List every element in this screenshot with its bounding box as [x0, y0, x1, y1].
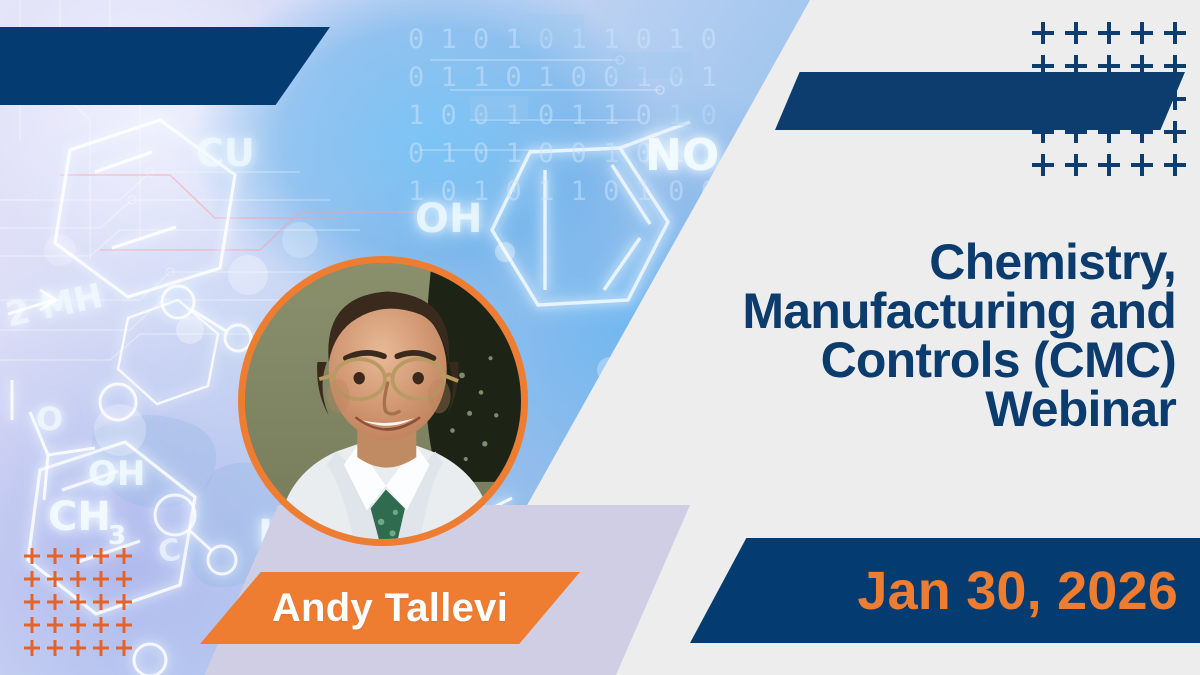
svg-text:CH: CH	[48, 494, 111, 540]
plus-icon	[1098, 22, 1120, 44]
date-label: Jan 30, 2026	[857, 560, 1200, 622]
plus-icon	[116, 594, 132, 610]
plus-icon	[47, 640, 63, 656]
title-line-1: Chemistry,	[616, 238, 1176, 287]
plus-icon	[1032, 121, 1054, 143]
plus-icon	[1032, 88, 1054, 110]
plus-icon	[93, 548, 109, 564]
plus-icon	[1065, 88, 1087, 110]
plus-icon	[1131, 121, 1153, 143]
plus-icon	[1098, 88, 1120, 110]
date-banner: Jan 30, 2026	[690, 538, 1200, 643]
plus-icon	[1164, 22, 1186, 44]
title-line-2: Manufacturing and	[616, 287, 1176, 336]
speaker-name-label: Andy Tallevi	[272, 586, 508, 631]
plus-icon	[70, 640, 86, 656]
svg-text:OH: OH	[415, 196, 482, 242]
plus-icon	[24, 571, 40, 587]
plus-icon	[1131, 88, 1153, 110]
webinar-promo-banner: 0 1 0 1 0 1 1 0 1 0 0 1 1 0 1 0 0 1 0 1 …	[0, 0, 1200, 675]
plus-icon	[47, 594, 63, 610]
svg-text:NO: NO	[645, 130, 719, 181]
plus-icon	[1131, 55, 1153, 77]
plus-icon	[93, 640, 109, 656]
plus-icon	[1131, 22, 1153, 44]
svg-text:3: 3	[108, 521, 126, 551]
svg-text:CU: CU	[196, 131, 255, 175]
plus-icon	[70, 617, 86, 633]
plus-icon	[1032, 22, 1054, 44]
plus-icon	[116, 617, 132, 633]
plus-icon	[1065, 121, 1087, 143]
plus-icon	[1065, 55, 1087, 77]
navy-parallelogram-top-left	[0, 27, 330, 105]
title-line-4: Webinar	[616, 385, 1176, 434]
plus-icon	[70, 548, 86, 564]
svg-text:2 MH: 2 MH	[2, 276, 106, 335]
plus-icon	[1098, 121, 1120, 143]
plus-grid-navy	[1032, 22, 1186, 176]
plus-icon	[47, 548, 63, 564]
plus-icon	[93, 571, 109, 587]
plus-icon	[47, 571, 63, 587]
svg-text:O: O	[36, 400, 63, 438]
plus-icon	[24, 640, 40, 656]
plus-icon	[1131, 154, 1153, 176]
speaker-avatar	[238, 256, 528, 546]
plus-icon	[1164, 121, 1186, 143]
plus-icon	[1065, 154, 1087, 176]
plus-icon	[93, 594, 109, 610]
plus-icon	[1032, 154, 1054, 176]
plus-icon	[24, 548, 40, 564]
plus-icon	[1164, 55, 1186, 77]
plus-icon	[1164, 88, 1186, 110]
svg-text:OH: OH	[88, 454, 145, 494]
plus-icon	[1032, 55, 1054, 77]
plus-icon	[70, 594, 86, 610]
plus-icon	[116, 571, 132, 587]
plus-icon	[70, 571, 86, 587]
plus-icon	[24, 617, 40, 633]
plus-icon	[1098, 154, 1120, 176]
plus-icon	[93, 617, 109, 633]
plus-icon	[24, 594, 40, 610]
plus-icon	[1065, 22, 1087, 44]
plus-icon	[1098, 55, 1120, 77]
title-line-3: Controls (CMC)	[616, 336, 1176, 385]
svg-text:C: C	[156, 532, 184, 570]
plus-icon	[47, 617, 63, 633]
plus-icon	[1164, 154, 1186, 176]
plus-icon	[116, 548, 132, 564]
speaker-name-banner: Andy Tallevi	[200, 572, 580, 644]
page-title: Chemistry, Manufacturing and Controls (C…	[616, 238, 1176, 434]
plus-icon	[116, 640, 132, 656]
plus-grid-orange	[24, 548, 132, 656]
circuit-traces-pink	[60, 175, 420, 250]
